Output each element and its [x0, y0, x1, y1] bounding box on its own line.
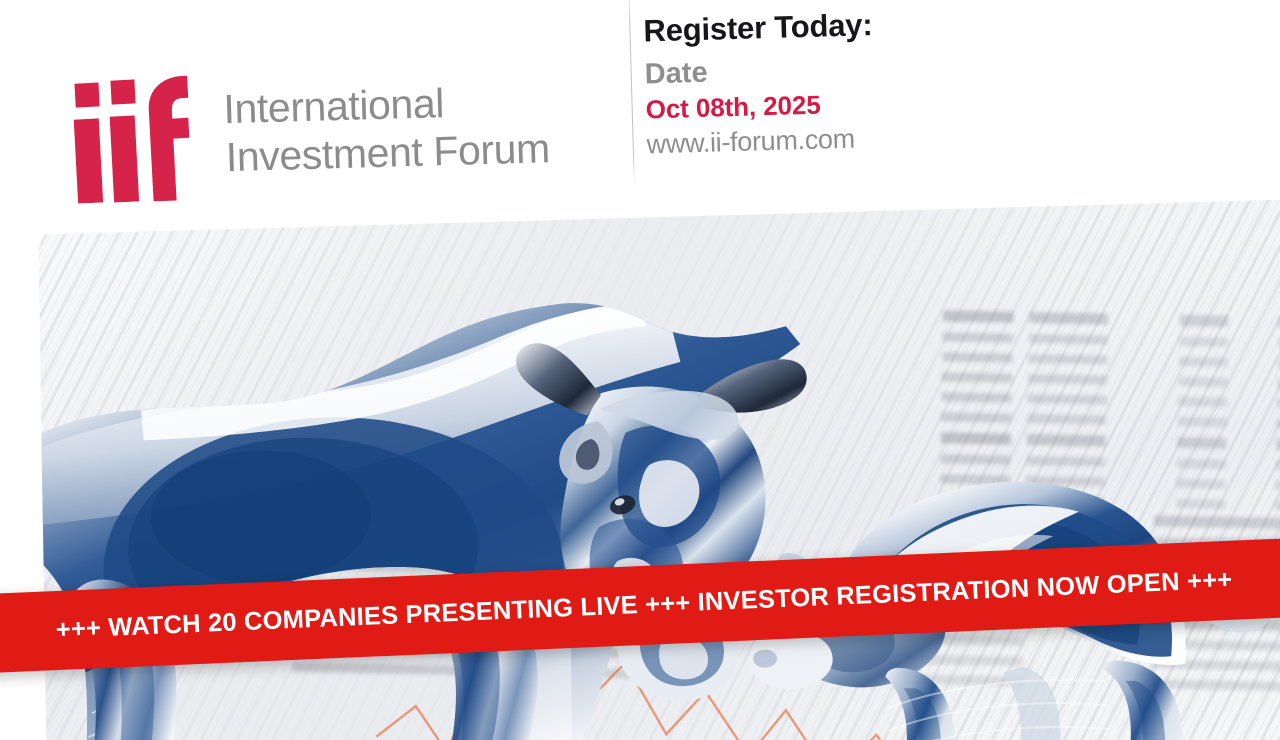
- register-title: Register Today:: [643, 0, 1074, 51]
- header-divider: [628, 0, 635, 188]
- iif-logomark-icon: [71, 74, 194, 203]
- iif-logo[interactable]: International Investment Forum: [71, 78, 75, 208]
- logo-line-2: Investment Forum: [224, 124, 550, 181]
- register-info-block: Register Today: Date Oct 08th, 2025 www.…: [643, 0, 1077, 162]
- iif-wordmark: International Investment Forum: [223, 76, 551, 181]
- promo-banner-canvas: International Investment Forum Register …: [0, 0, 1280, 740]
- header-band: International Investment Forum Register …: [0, 0, 1280, 236]
